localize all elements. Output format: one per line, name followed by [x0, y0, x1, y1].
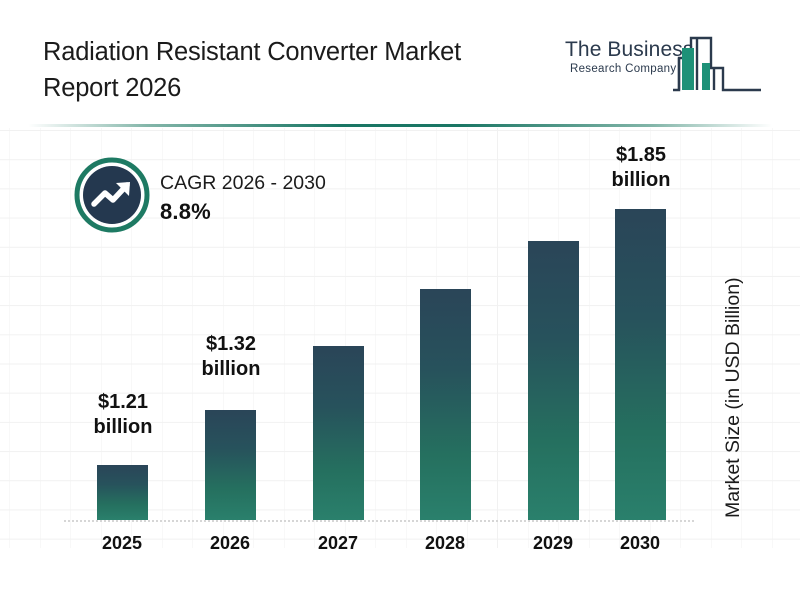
xtick-2026: 2026	[175, 533, 285, 554]
bar-value-amount-2025: $1.21	[68, 390, 178, 415]
bar-value-unit-2026: billion	[176, 357, 286, 382]
bar-value-amount-2030: $1.85	[586, 143, 696, 168]
bar-value-label-2030: $1.85 billion	[586, 143, 696, 193]
bar-value-unit-2030: billion	[586, 168, 696, 193]
bar-value-label-2026: $1.32 billion	[176, 332, 286, 382]
bar-value-label-2025: $1.21 billion	[68, 390, 178, 440]
bar-2027[interactable]	[313, 346, 364, 520]
xtick-2030: 2030	[585, 533, 695, 554]
y-axis-label: Market Size (in USD Billion)	[700, 0, 723, 218]
xtick-2027: 2027	[283, 533, 393, 554]
xtick-2028: 2028	[390, 533, 500, 554]
bar-2029[interactable]	[528, 241, 579, 520]
x-axis-baseline	[64, 520, 694, 522]
bar-value-amount-2026: $1.32	[176, 332, 286, 357]
bar-2030[interactable]	[615, 209, 666, 520]
chart-page: Radiation Resistant Converter Market Rep…	[0, 0, 800, 600]
bar-2028[interactable]	[420, 289, 471, 520]
bar-2026[interactable]	[205, 410, 256, 520]
y-axis-label-text: Market Size (in USD Billion)	[722, 277, 745, 518]
bar-value-unit-2025: billion	[68, 415, 178, 440]
bar-chart-plot: $1.21 billion $1.32 billion $1.85 billio…	[0, 0, 800, 600]
xtick-2025: 2025	[67, 533, 177, 554]
bar-2025[interactable]	[97, 465, 148, 520]
